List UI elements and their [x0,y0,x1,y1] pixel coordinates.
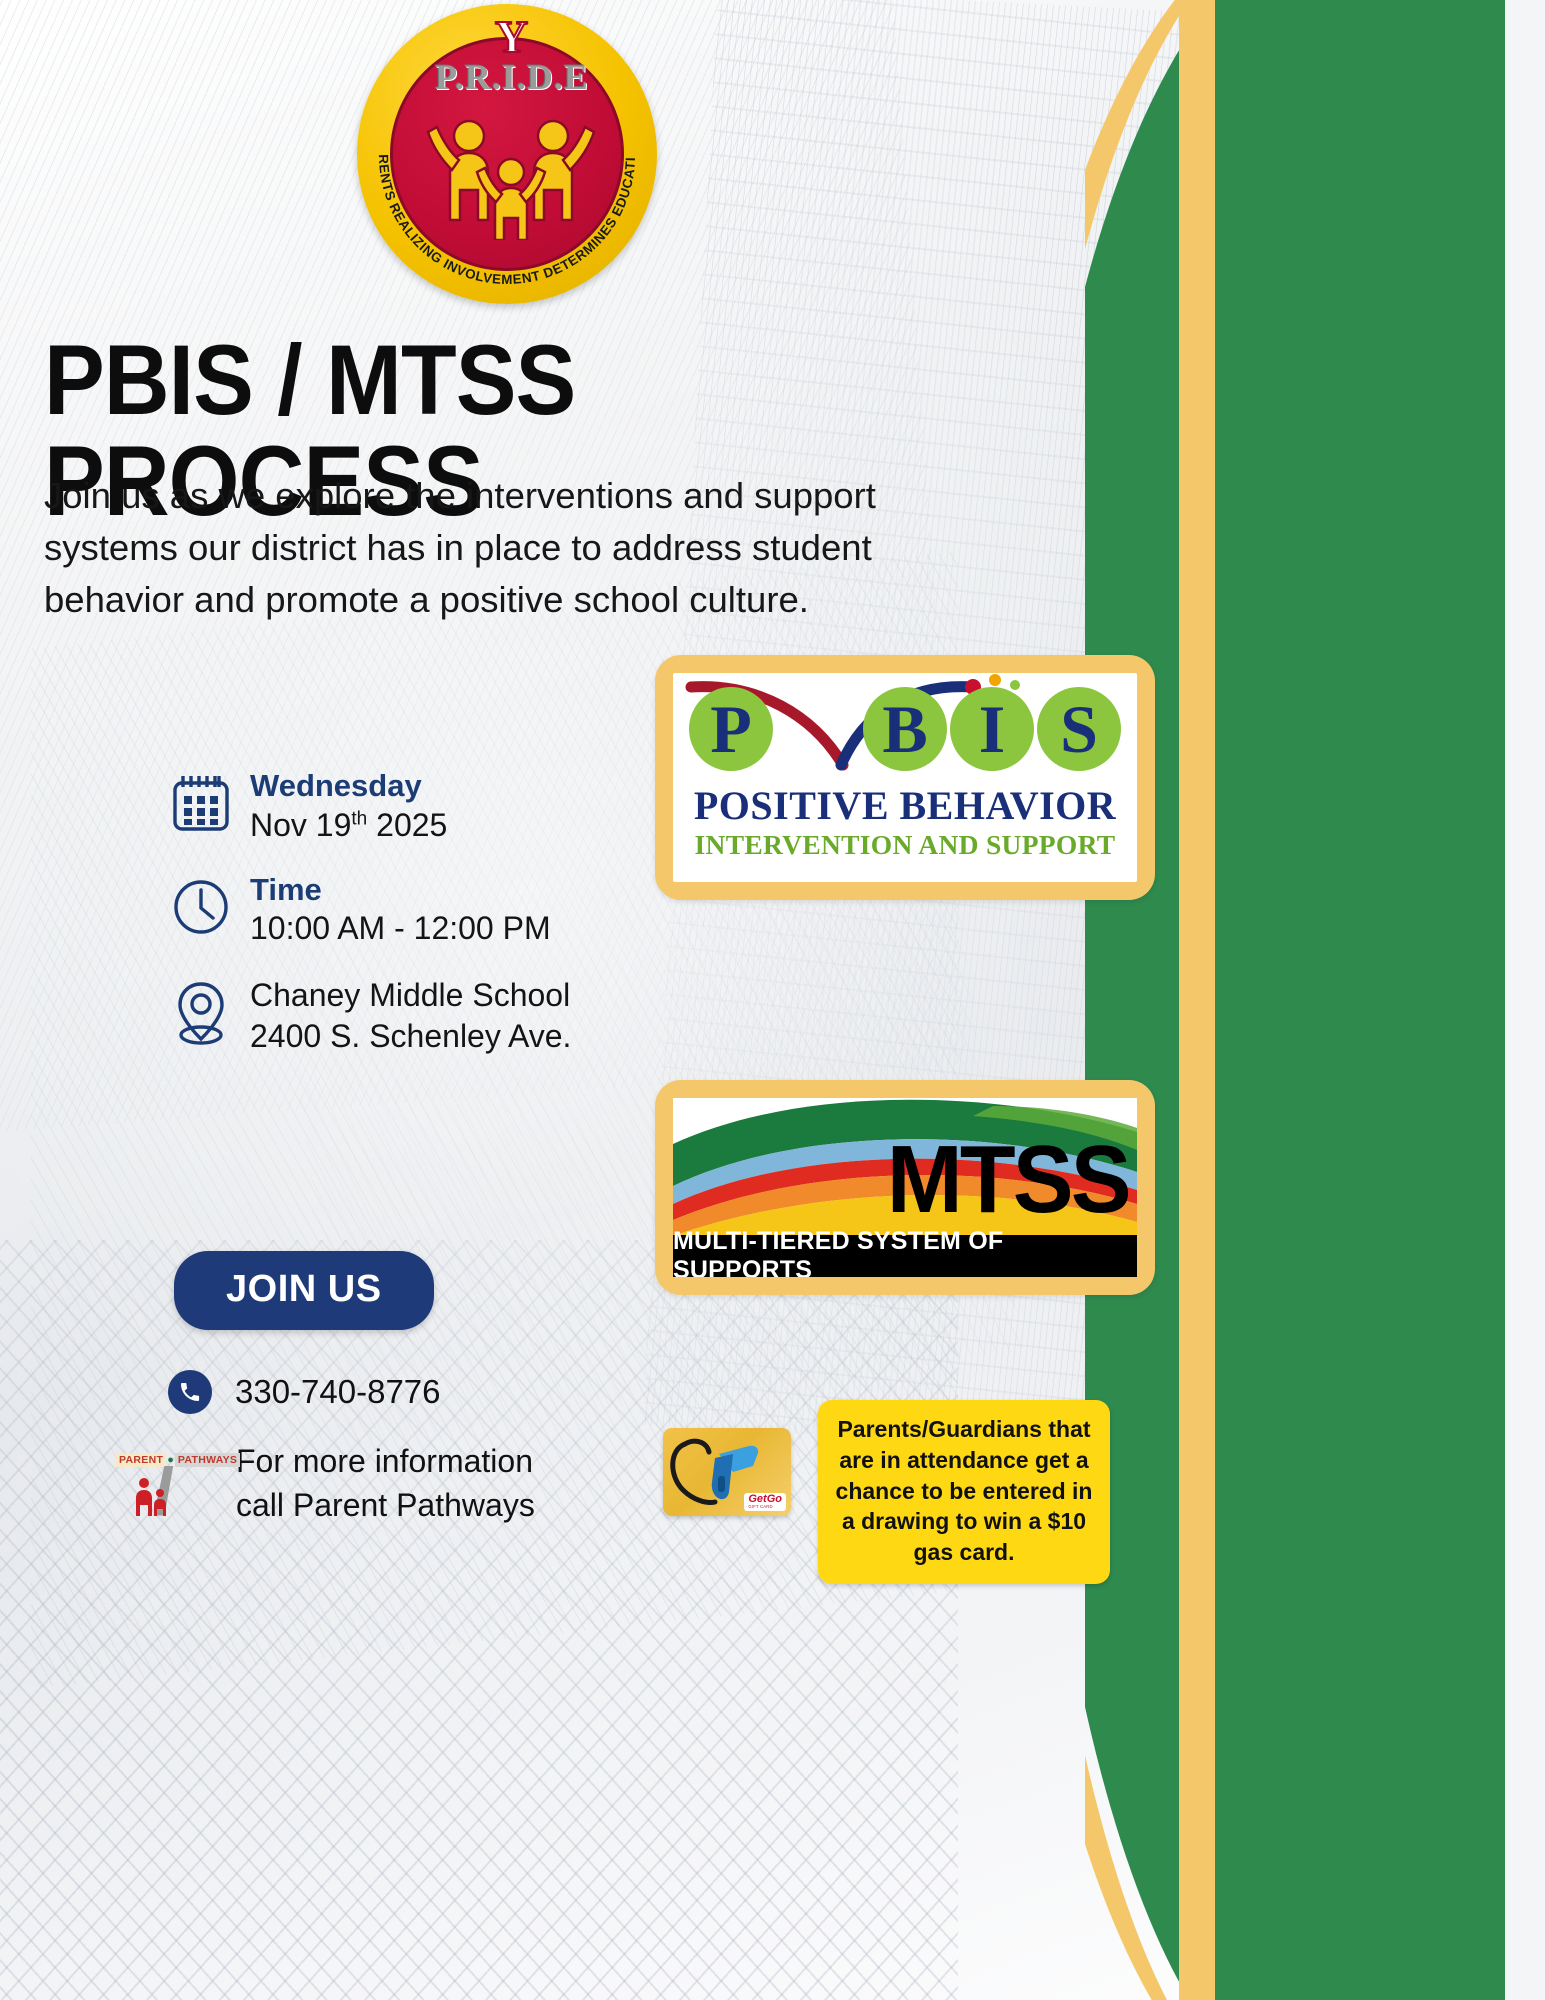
getgo-subtitle: GIFT CARD [748,1505,782,1510]
parent-pathways-wordmark: PARENT ● PATHWAYS [116,1452,226,1468]
mtss-logo: MTSS MULTI-TIERED SYSTEM OF SUPPORTS [673,1098,1137,1277]
pbis-logo: P B I S POSITIVE BEHAVIOR INTERVENTION A… [673,673,1137,882]
intro-paragraph: Join us as we explore the interventions … [44,470,964,625]
pbis-tagline-line2: INTERVENTION AND SUPPORT [673,829,1137,861]
phone-icon [168,1370,212,1414]
pbis-tagline-line1: POSITIVE BEHAVIOR [673,785,1137,827]
pbis-letter-p: P [689,687,773,771]
pbis-letter-i: I [950,687,1034,771]
incentive-text: Parents/Guardians that are in attendance… [830,1414,1098,1568]
map-pin-icon [170,975,246,1052]
pbis-letter-row: P B I S [673,673,1137,785]
pathways-pin-icon: ● [166,1454,175,1466]
mtss-wordmark: MTSS [887,1132,1129,1228]
time-label: Time [250,872,551,909]
pride-tagline-text: PARENTS REALIZING INVOLVEMENT DETERMINES… [357,4,638,287]
pbis-letters: P B I S [673,673,1137,785]
pathways-word-pathways: PATHWAYS [175,1453,240,1467]
pbis-logo-card: P B I S POSITIVE BEHAVIOR INTERVENTION A… [655,655,1155,900]
detail-row-location: Chaney Middle School 2400 S. Schenley Av… [170,975,690,1057]
incentive-callout: Parents/Guardians that are in attendance… [818,1400,1110,1584]
info-line-1: For more information [236,1440,535,1484]
detail-text-location: Chaney Middle School 2400 S. Schenley Av… [246,975,571,1057]
pathways-figures-icon [132,1476,172,1516]
getgo-brand: GetGo GIFT CARD [744,1493,786,1511]
detail-text-time: Time 10:00 AM - 12:00 PM [246,872,551,950]
date-value: Nov 19th 2025 [250,805,447,846]
location-address: 2400 S. Schenley Ave. [250,1016,571,1057]
parent-pathways-logo: PARENT ● PATHWAYS [112,1450,230,1518]
pathways-word-parent: PARENT [116,1453,166,1467]
pbis-letter-b: B [863,687,947,771]
parent-pathways-row: PARENT ● PATHWAYS For more information c… [112,1440,535,1527]
gas-card-image: GetGo GIFT CARD [663,1428,791,1516]
event-details: Wednesday Nov 19th 2025 Time 10:00 AM - … [170,768,690,1083]
phone-number[interactable]: 330-740-8776 [235,1373,441,1411]
phone-row[interactable]: 330-740-8776 [168,1370,441,1414]
date-value-pre: Nov 19 [250,807,351,843]
page-right-edge [1505,0,1545,2000]
date-value-post: 2025 [367,807,447,843]
time-value: 10:00 AM - 12:00 PM [250,908,551,949]
flyer-page: Y P.R.I.D.E PARENTS REALIZING INVOLVEME [0,0,1545,2000]
info-line-2: call Parent Pathways [236,1484,535,1528]
parent-pathways-text: For more information call Parent Pathway… [236,1440,535,1527]
gold-swoosh-divider [915,0,1215,2000]
detail-row-date: Wednesday Nov 19th 2025 [170,768,690,846]
join-us-button[interactable]: JOIN US [174,1251,434,1330]
pride-logo: Y P.R.I.D.E PARENTS REALIZING INVOLVEME [357,4,667,304]
date-label: Wednesday [250,768,447,805]
calendar-icon [170,768,246,839]
detail-text-date: Wednesday Nov 19th 2025 [246,768,447,846]
mtss-logo-card: MTSS MULTI-TIERED SYSTEM OF SUPPORTS [655,1080,1155,1295]
pride-tagline-arc: PARENTS REALIZING INVOLVEMENT DETERMINES… [357,4,667,304]
detail-row-time: Time 10:00 AM - 12:00 PM [170,872,690,950]
clock-icon [170,872,246,943]
location-name: Chaney Middle School [250,975,571,1016]
date-value-ordinal: th [351,808,367,829]
mtss-tagline: MULTI-TIERED SYSTEM OF SUPPORTS [673,1235,1137,1277]
pbis-letter-s: S [1037,687,1121,771]
